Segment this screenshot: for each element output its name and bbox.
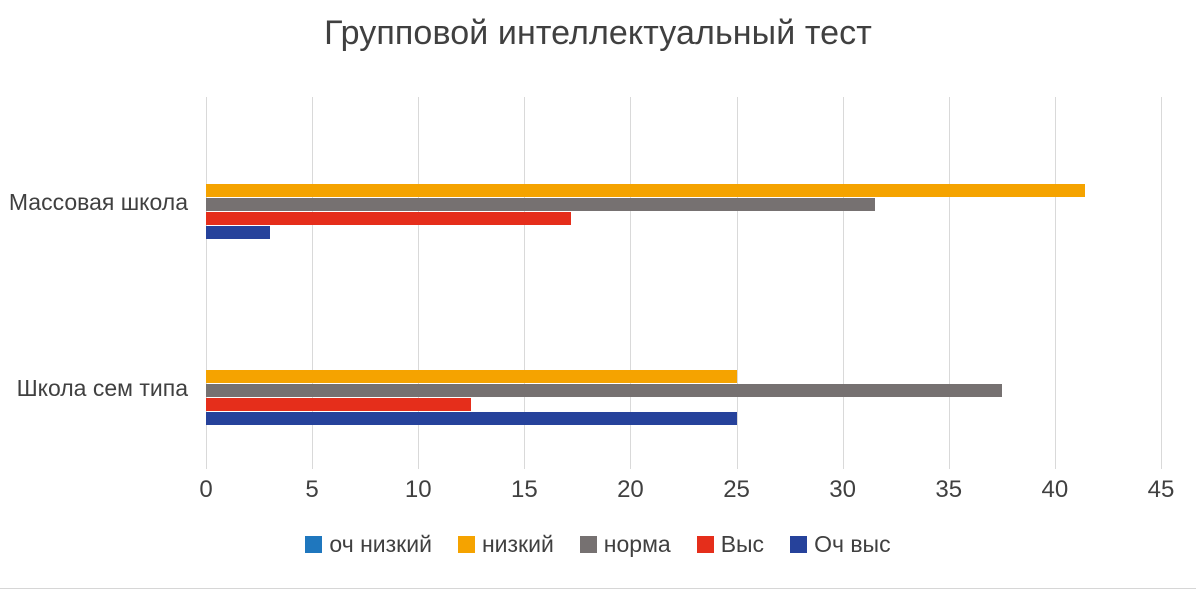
legend-label: низкий xyxy=(482,533,554,556)
bar-row xyxy=(206,226,1161,239)
legend-item[interactable]: норма xyxy=(580,533,671,556)
x-tick-label-15: 15 xyxy=(484,476,564,504)
legend-swatch-icon xyxy=(458,536,475,553)
bar[interactable] xyxy=(206,226,270,239)
legend-swatch-icon xyxy=(305,536,322,553)
category-label: Школа сем типа xyxy=(0,375,188,402)
x-tick-label-5: 5 xyxy=(272,476,352,504)
chart-container: Групповой интеллектуальный тест Массовая… xyxy=(0,0,1196,605)
bar[interactable] xyxy=(206,412,737,425)
legend-swatch-icon xyxy=(790,536,807,553)
category-label: Массовая школа xyxy=(0,189,188,216)
legend-item[interactable]: Оч выс xyxy=(790,533,891,556)
bar-row xyxy=(206,184,1161,197)
bar-row xyxy=(206,370,1161,383)
x-tick-label-45: 45 xyxy=(1121,476,1196,504)
bar-row xyxy=(206,356,1161,369)
bar-row xyxy=(206,412,1161,425)
bar-row xyxy=(206,170,1161,183)
bar[interactable] xyxy=(206,212,571,225)
legend-label: Оч выс xyxy=(814,533,891,556)
legend-label: норма xyxy=(604,533,671,556)
legend-item[interactable]: оч низкий xyxy=(305,533,432,556)
legend-swatch-icon xyxy=(697,536,714,553)
plot-area xyxy=(206,97,1161,469)
legend-item[interactable]: Выс xyxy=(697,533,764,556)
legend-swatch-icon xyxy=(580,536,597,553)
x-tick-label-10: 10 xyxy=(378,476,458,504)
bar-row xyxy=(206,212,1161,225)
legend-label: Выс xyxy=(721,533,764,556)
bar-group xyxy=(206,170,1161,240)
chart-title: Групповой интеллектуальный тест xyxy=(0,14,1196,53)
x-tick-label-0: 0 xyxy=(166,476,246,504)
legend-item[interactable]: низкий xyxy=(458,533,554,556)
x-tick-label-30: 30 xyxy=(803,476,883,504)
bar[interactable] xyxy=(206,198,875,211)
x-tick-label-20: 20 xyxy=(590,476,670,504)
gridline-45 xyxy=(1161,97,1162,469)
bar[interactable] xyxy=(206,184,1085,197)
bar-row xyxy=(206,198,1161,211)
bar-row xyxy=(206,384,1161,397)
bar[interactable] xyxy=(206,370,737,383)
chart-legend: оч низкийнизкийнормаВысОч выс xyxy=(0,533,1196,556)
bar[interactable] xyxy=(206,398,471,411)
bar[interactable] xyxy=(206,384,1002,397)
value-axis-labels: 051015202530354045 xyxy=(0,476,1196,510)
bottom-divider xyxy=(0,588,1196,589)
legend-label: оч низкий xyxy=(329,533,432,556)
x-tick-label-40: 40 xyxy=(1015,476,1095,504)
x-tick-label-35: 35 xyxy=(909,476,989,504)
x-tick-label-25: 25 xyxy=(697,476,777,504)
bar-row xyxy=(206,398,1161,411)
bar-group xyxy=(206,356,1161,426)
